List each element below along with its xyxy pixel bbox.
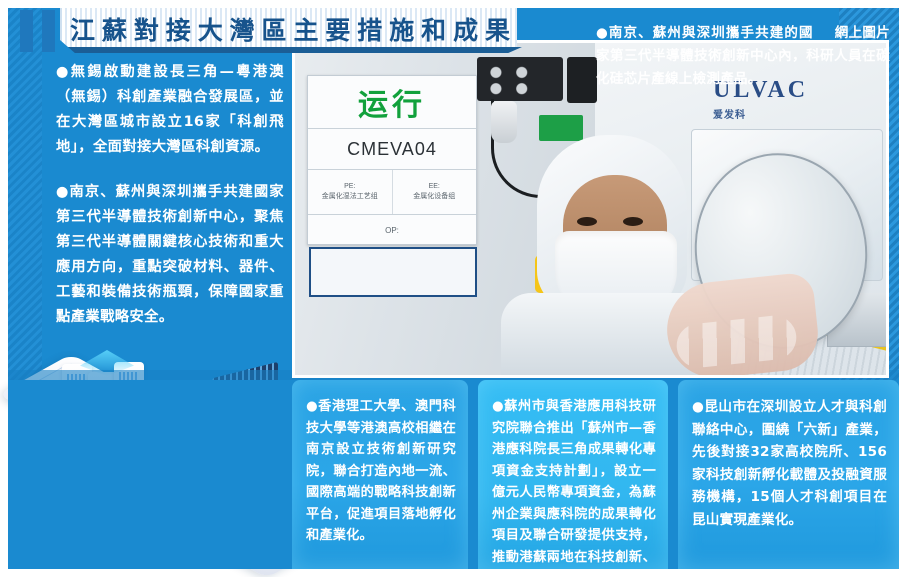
bullet-paragraph-1: ●無錫啟動建設長三角—粵港澳（無錫）科創產業融合發展區，並在大灣區城市設立16家…	[56, 60, 284, 160]
photo-content: ULVAC 爱发科 运行 CMEVA04 PE:	[295, 43, 886, 375]
title-char: 蘇	[102, 11, 127, 47]
title-char: 和	[421, 11, 446, 47]
machine-field-ee-value: 金属化设备组	[413, 192, 455, 202]
title-char: 成	[453, 11, 478, 47]
card-suzhou-astri-text: ●蘇州市與香港應用科技研究院聯合推出「蘇州市—香港應科院長三角成果轉化專項資金支…	[478, 380, 668, 577]
title-char: 灣	[230, 11, 255, 47]
machine-field-op-label: OP:	[308, 215, 476, 245]
machine-field-pe-value: 金属化湿法工艺组	[322, 192, 378, 202]
machine-status-sign: 运行 CMEVA04 PE: 金属化湿法工艺组 EE: 金属化设备组 OP:	[307, 75, 477, 245]
card-suzhou-astri[interactable]: ●蘇州市與香港應用科技研究院聯合推出「蘇州市—香港應科院長三角成果轉化專項資金支…	[478, 380, 668, 569]
title-char: 江	[70, 11, 95, 47]
card-hk-polyu[interactable]: ●香港理工大學、澳門科技大學等港澳高校相繼在南京設立技術創新研究院，聯合打造內地…	[292, 380, 468, 569]
worker-eye	[577, 217, 597, 226]
title-char: 施	[389, 11, 414, 47]
title-accent-bar-1	[20, 10, 33, 52]
machine-field-ee: EE: 金属化设备组	[392, 170, 477, 214]
title-char: 接	[166, 11, 191, 47]
left-text-column: ●無錫啟動建設長三角—粵港澳（無錫）科創產業融合發展區，並在大灣區城市設立16家…	[56, 60, 284, 330]
card-hk-polyu-text: ●香港理工大學、澳門科技大學等港澳高校相繼在南京設立技術創新研究院，聯合打造內地…	[292, 380, 468, 547]
title-char: 大	[198, 11, 223, 47]
title-char: 區	[262, 11, 287, 47]
machine-field-pe-label: PE:	[344, 182, 355, 192]
ulvac-brand-sub: 爱发科	[713, 106, 808, 121]
title-char: 措	[357, 11, 382, 47]
worker-eye	[623, 217, 643, 226]
control-box-icon	[477, 57, 563, 101]
title-char: 對	[134, 11, 159, 47]
bottom-card-row: ●香港理工大學、澳門科技大學等港澳高校相繼在南京設立技術創新研究院，聯合打造內地…	[8, 380, 899, 569]
machine-field-pe: PE: 金属化湿法工艺组	[308, 170, 392, 214]
title-banner: 江 蘇 對 接 大 灣 區 主 要 措 施 和 成 果	[8, 6, 528, 54]
machine-sign-lower-plate	[309, 247, 477, 297]
card-kunshan-text: ●昆山市在深圳設立人才與科創聯絡中心，圍繞「六新」產業，先後對接32家高校院所、…	[678, 380, 899, 531]
title-char: 果	[485, 11, 510, 47]
bullet-paragraph-2: ●南京、蘇州與深圳攜手共建國家第三代半導體技術創新中心，聚焦第三代半導體關鍵核心…	[56, 180, 284, 330]
title-char: 要	[325, 11, 350, 47]
page-title: 江 蘇 對 接 大 灣 區 主 要 措 施 和 成 果	[70, 10, 510, 48]
control-box-secondary-icon	[567, 57, 597, 103]
infographic-page: 江 蘇 對 接 大 灣 區 主 要 措 施 和 成 果	[0, 0, 907, 577]
machine-status-text: 运行	[308, 76, 476, 129]
card-kunshan[interactable]: ●昆山市在深圳設立人才與科創聯絡中心，圍繞「六新」產業，先後對接32家高校院所、…	[678, 380, 899, 569]
title-char: 主	[293, 11, 318, 47]
machine-code-text: CMEVA04	[308, 129, 476, 170]
machine-sign-fields: PE: 金属化湿法工艺组 EE: 金属化设备组	[308, 170, 476, 215]
photo-caption: 網上圖片 ●南京、蘇州與深圳攜手共建的國家第三代半導體技術創新中心內，科研人員在…	[596, 22, 890, 91]
machine-field-ee-label: EE:	[429, 182, 440, 192]
title-accent-bar-2	[42, 10, 55, 52]
photo-credit: 網上圖片	[835, 22, 890, 45]
